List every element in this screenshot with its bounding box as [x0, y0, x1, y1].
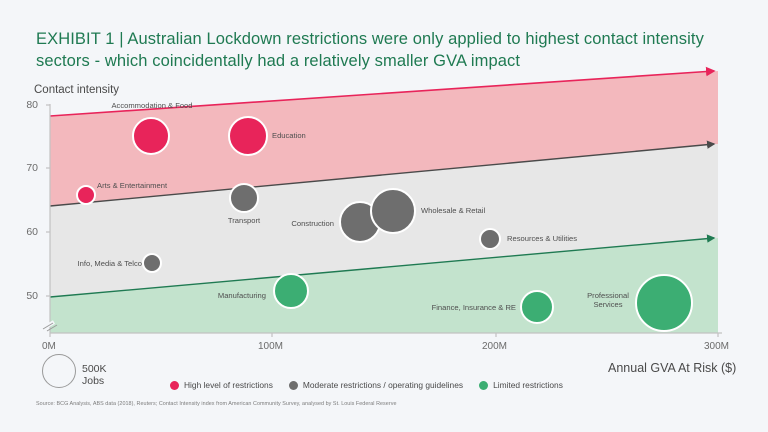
bubble-label-arts-entertainment: Arts & Entertainment	[97, 181, 197, 190]
y-axis-title: Contact intensity	[34, 84, 119, 96]
y-tick-label-70: 70	[12, 162, 38, 174]
legend-label-moderate: Moderate restrictions / operating guidel…	[303, 380, 463, 390]
y-tick-label-60: 60	[12, 226, 38, 238]
bubble-professional-services[interactable]	[636, 275, 692, 331]
bubble-label-construction: Construction	[272, 219, 334, 228]
legend-dot-moderate-icon	[289, 381, 298, 390]
slide: EXHIBIT 1 | Australian Lockdown restrict…	[0, 0, 768, 432]
bubble-info-media-telco[interactable]	[143, 254, 161, 272]
legend-dot-limited-icon	[479, 381, 488, 390]
bubble-label-info-media-telco: Info, Media & Telco	[60, 259, 142, 268]
bubble-education[interactable]	[229, 117, 267, 155]
size-legend-circle-icon	[42, 354, 76, 388]
bubble-label-finance-insurance-re: Finance, Insurance & RE	[410, 303, 516, 312]
bubble-label-wholesale-retail: Wholesale & Retail	[421, 206, 511, 215]
bubble-finance-insurance-re[interactable]	[521, 291, 553, 323]
size-legend-label: 500K Jobs	[82, 363, 107, 387]
legend-label-limited: Limited restrictions	[493, 380, 563, 390]
color-legend: High level of restrictions Moderate rest…	[170, 380, 563, 390]
x-tick-label-0m: 0M	[42, 341, 56, 352]
legend-item-high[interactable]: High level of restrictions	[170, 380, 273, 390]
y-tick-label-50: 50	[12, 290, 38, 302]
x-axis-title: Annual GVA At Risk ($)	[608, 361, 736, 375]
legend-item-moderate[interactable]: Moderate restrictions / operating guidel…	[289, 380, 463, 390]
bubble-label-transport: Transport	[214, 216, 274, 225]
bubble-resources-utilities[interactable]	[480, 229, 500, 249]
bubble-label-professional-services: Professional Services	[580, 291, 636, 310]
bubble-arts-entertainment[interactable]	[77, 186, 95, 204]
x-tick-label-200m: 200M	[482, 341, 507, 352]
bubble-wholesale-retail[interactable]	[371, 189, 415, 233]
x-tick-label-100m: 100M	[258, 341, 283, 352]
bubble-transport[interactable]	[230, 184, 258, 212]
bubble-label-manufacturing: Manufacturing	[196, 291, 266, 300]
bubble-accommodation-food[interactable]	[133, 118, 169, 154]
bubble-label-accommodation-food: Accommodation & Food	[104, 101, 200, 110]
y-tick-label-80: 80	[12, 99, 38, 111]
bubble-label-resources-utilities: Resources & Utilities	[507, 234, 603, 243]
bubble-label-education: Education	[272, 131, 342, 140]
source-note: Source: BCG Analysis, ABS data (2018), R…	[36, 401, 397, 407]
legend-item-limited[interactable]: Limited restrictions	[479, 380, 563, 390]
bubble-manufacturing[interactable]	[274, 274, 308, 308]
x-tick-label-300m: 300M	[704, 341, 729, 352]
bubble-chart: Contact intensity 80 70 60 50 0M 100M 20…	[0, 0, 768, 432]
legend-label-high: High level of restrictions	[184, 380, 273, 390]
legend-dot-high-icon	[170, 381, 179, 390]
